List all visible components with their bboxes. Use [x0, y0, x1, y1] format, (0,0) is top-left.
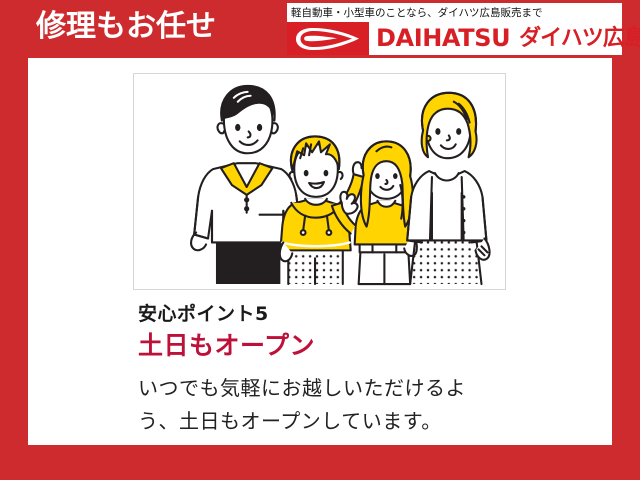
poster-header: 修理もお任せ 軽自動車・小型車のことなら、ダイハツ広島販売まで DAIHATSU…	[0, 0, 640, 58]
point-body-line-1: いつでも気軽にお越しいただけるよ	[138, 372, 558, 405]
point-title: 土日もオープン	[138, 329, 558, 363]
headline: 修理もお任せ	[36, 9, 216, 45]
brand-lockup: DAIHATSU ダイハツ広島販売	[287, 22, 622, 55]
brand-japanese-name: ダイハツ広島販売	[519, 22, 640, 55]
family-illustration	[133, 73, 506, 290]
brand-tagline: 軽自動車・小型車のことなら、ダイハツ広島販売まで	[291, 5, 618, 21]
brand-latin-name: DAIHATSU	[376, 22, 510, 55]
daihatsu-d-mark-icon	[287, 22, 369, 55]
point-body: いつでも気軽にお越しいただけるよ う、土日もオープンしています。	[138, 372, 558, 438]
content-card: 安心ポイント5 土日もオープン いつでも気軽にお越しいただけるよ う、土日もオー…	[28, 58, 612, 445]
brand-logo-block: 軽自動車・小型車のことなら、ダイハツ広島販売まで DAIHATSU ダイハツ広島…	[287, 3, 622, 55]
point-label: 安心ポイント5	[138, 301, 558, 327]
poster-root: 修理もお任せ 軽自動車・小型車のことなら、ダイハツ広島販売まで DAIHATSU…	[0, 0, 640, 480]
point-body-line-2: う、土日もオープンしています。	[138, 405, 558, 438]
point-text-area: 安心ポイント5 土日もオープン いつでも気軽にお越しいただけるよ う、土日もオー…	[138, 301, 558, 438]
